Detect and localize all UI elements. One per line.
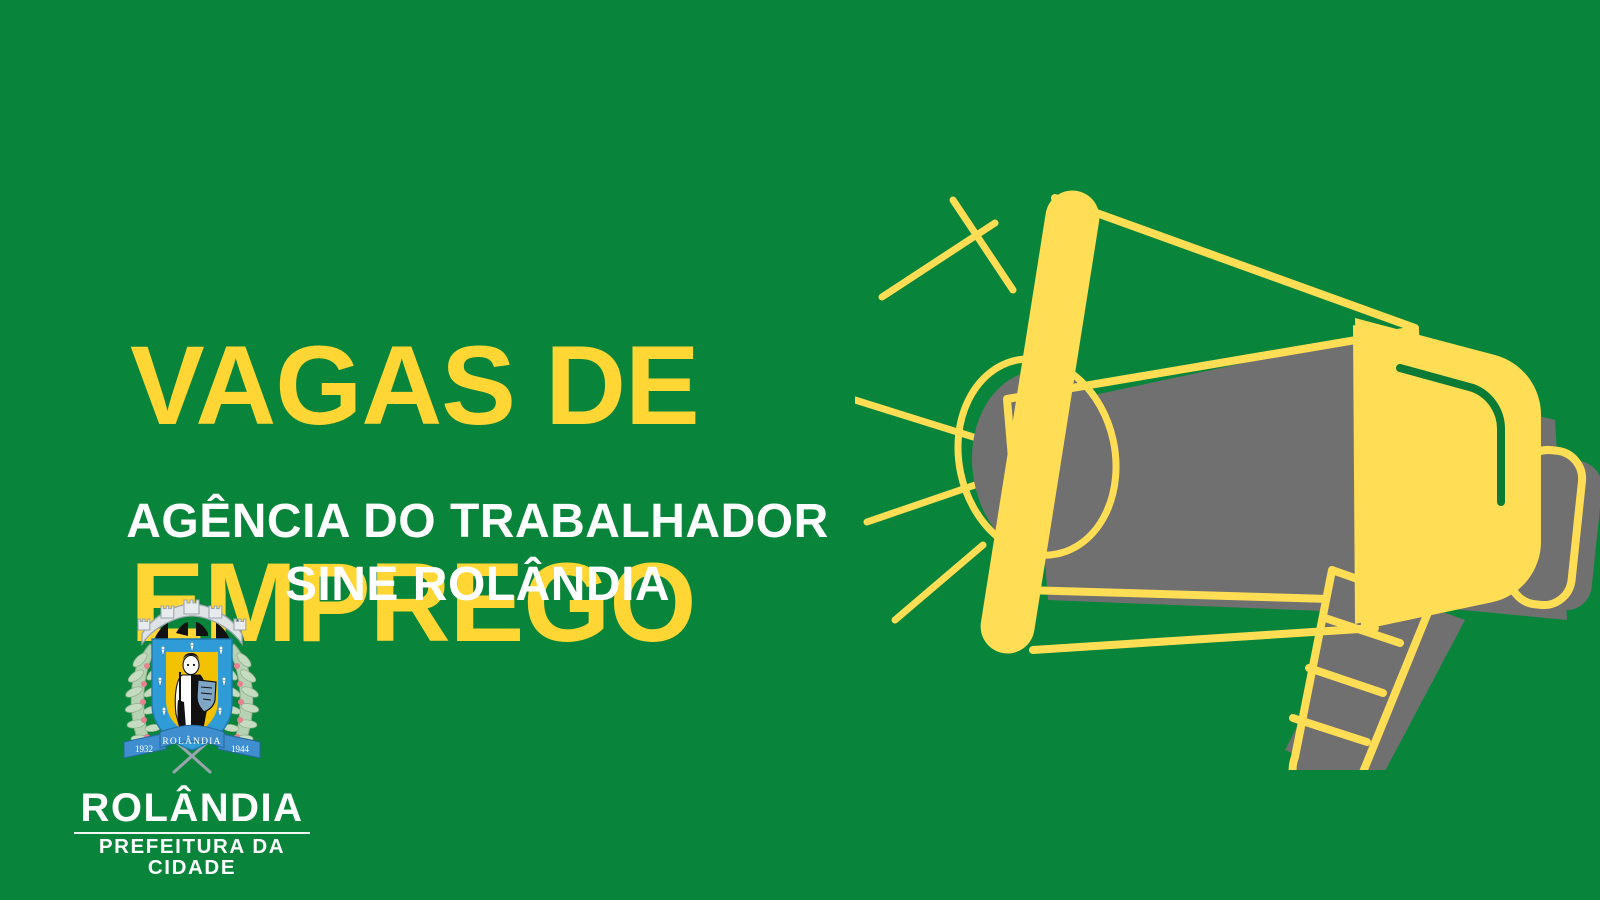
headline-line-1: VAGAS DE	[130, 332, 910, 441]
subtitle-line-1: AGÊNCIA DO TRABALHADOR	[0, 490, 955, 553]
mural-crown-icon	[138, 600, 246, 644]
ribbon-year-end: 1944	[231, 744, 250, 754]
megaphone-icon	[855, 150, 1600, 770]
brand-tagline: PREFEITURA DA CIDADE	[57, 837, 327, 878]
brand-name: ROLÂNDIA	[57, 788, 327, 828]
banner-root: VAGAS DE EMPREGO AGÊNCIA DO TRABALHADOR …	[0, 0, 1600, 900]
ribbon-city-name: ROLÂNDIA	[162, 735, 221, 747]
megaphone-body-rounded	[1353, 325, 1533, 624]
brand-divider	[74, 832, 310, 834]
ribbon-year-start: 1932	[135, 744, 153, 754]
megaphone-top-edge	[1055, 198, 1415, 328]
brand-lockup: ROLÂNDIA 1932 1944 ROLÂNDIA PREFEITURA D…	[57, 592, 327, 878]
rolandia-coat-of-arms-icon: ROLÂNDIA 1932 1944	[106, 592, 278, 782]
